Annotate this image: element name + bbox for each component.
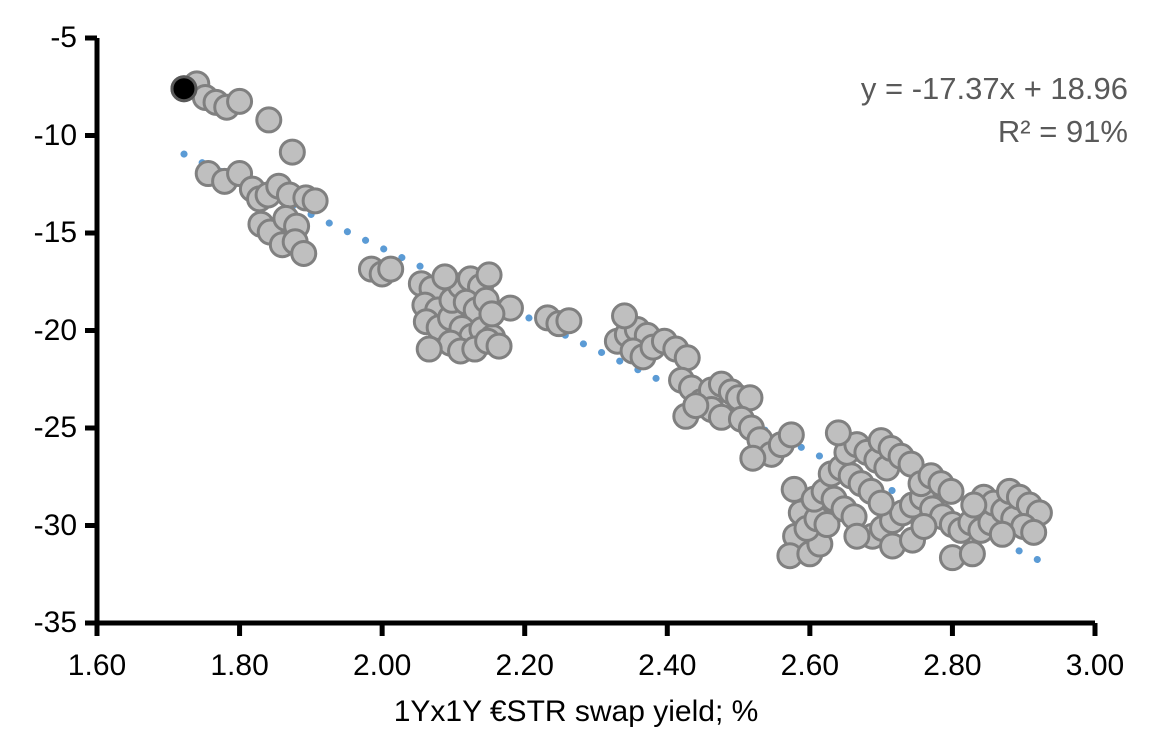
data-point bbox=[962, 493, 986, 517]
data-point bbox=[303, 189, 327, 213]
data-point bbox=[487, 334, 511, 358]
data-point bbox=[557, 309, 581, 333]
x-tick-label: 2.00 bbox=[353, 651, 411, 681]
data-point bbox=[990, 522, 1014, 546]
y-tick-label: -30 bbox=[34, 511, 77, 541]
y-tick-label: -5 bbox=[50, 23, 77, 53]
data-point bbox=[480, 302, 504, 326]
data-point bbox=[417, 337, 441, 361]
data-point bbox=[869, 491, 893, 515]
data-point bbox=[779, 423, 803, 447]
data-point bbox=[379, 257, 403, 281]
x-tick-label: 2.80 bbox=[923, 651, 981, 681]
highlighted-data-point bbox=[172, 77, 196, 101]
scatter-chart: -5-10-15-20-25-30-35 1.601.802.002.202.4… bbox=[0, 0, 1152, 745]
data-point bbox=[845, 524, 869, 548]
regression-equation: y = -17.37x + 18.96 bbox=[861, 68, 1128, 111]
data-point bbox=[675, 346, 699, 370]
x-tick-label: 1.60 bbox=[68, 651, 126, 681]
y-tick-label: -25 bbox=[34, 413, 77, 443]
y-tick-label: -15 bbox=[34, 218, 77, 248]
trendline-annotation: y = -17.37x + 18.96 R² = 91% bbox=[861, 68, 1128, 154]
data-point bbox=[257, 108, 281, 132]
x-tick-label: 2.40 bbox=[638, 651, 696, 681]
data-point bbox=[912, 514, 936, 538]
data-point bbox=[613, 304, 637, 328]
y-tick-label: -20 bbox=[34, 316, 77, 346]
data-point bbox=[292, 241, 316, 265]
x-axis-title: 1Yx1Y €STR swap yield; % bbox=[0, 697, 1152, 727]
data-point bbox=[228, 89, 252, 113]
data-point bbox=[684, 394, 708, 418]
x-tick-label: 1.80 bbox=[210, 651, 268, 681]
data-point bbox=[477, 263, 501, 287]
data-point bbox=[433, 265, 457, 289]
data-point bbox=[741, 446, 765, 470]
data-point bbox=[939, 479, 963, 503]
highlight-point bbox=[172, 77, 196, 101]
data-point bbox=[280, 140, 304, 164]
data-point bbox=[1022, 520, 1046, 544]
x-tick-label: 2.60 bbox=[781, 651, 839, 681]
data-point bbox=[826, 421, 850, 445]
x-tick-label: 2.20 bbox=[496, 651, 554, 681]
data-point bbox=[960, 542, 984, 566]
x-tick-label: 3.00 bbox=[1066, 651, 1124, 681]
y-tick-label: -35 bbox=[34, 608, 77, 638]
y-tick-label: -10 bbox=[34, 121, 77, 151]
r-squared-label: R² = 91% bbox=[861, 111, 1128, 154]
